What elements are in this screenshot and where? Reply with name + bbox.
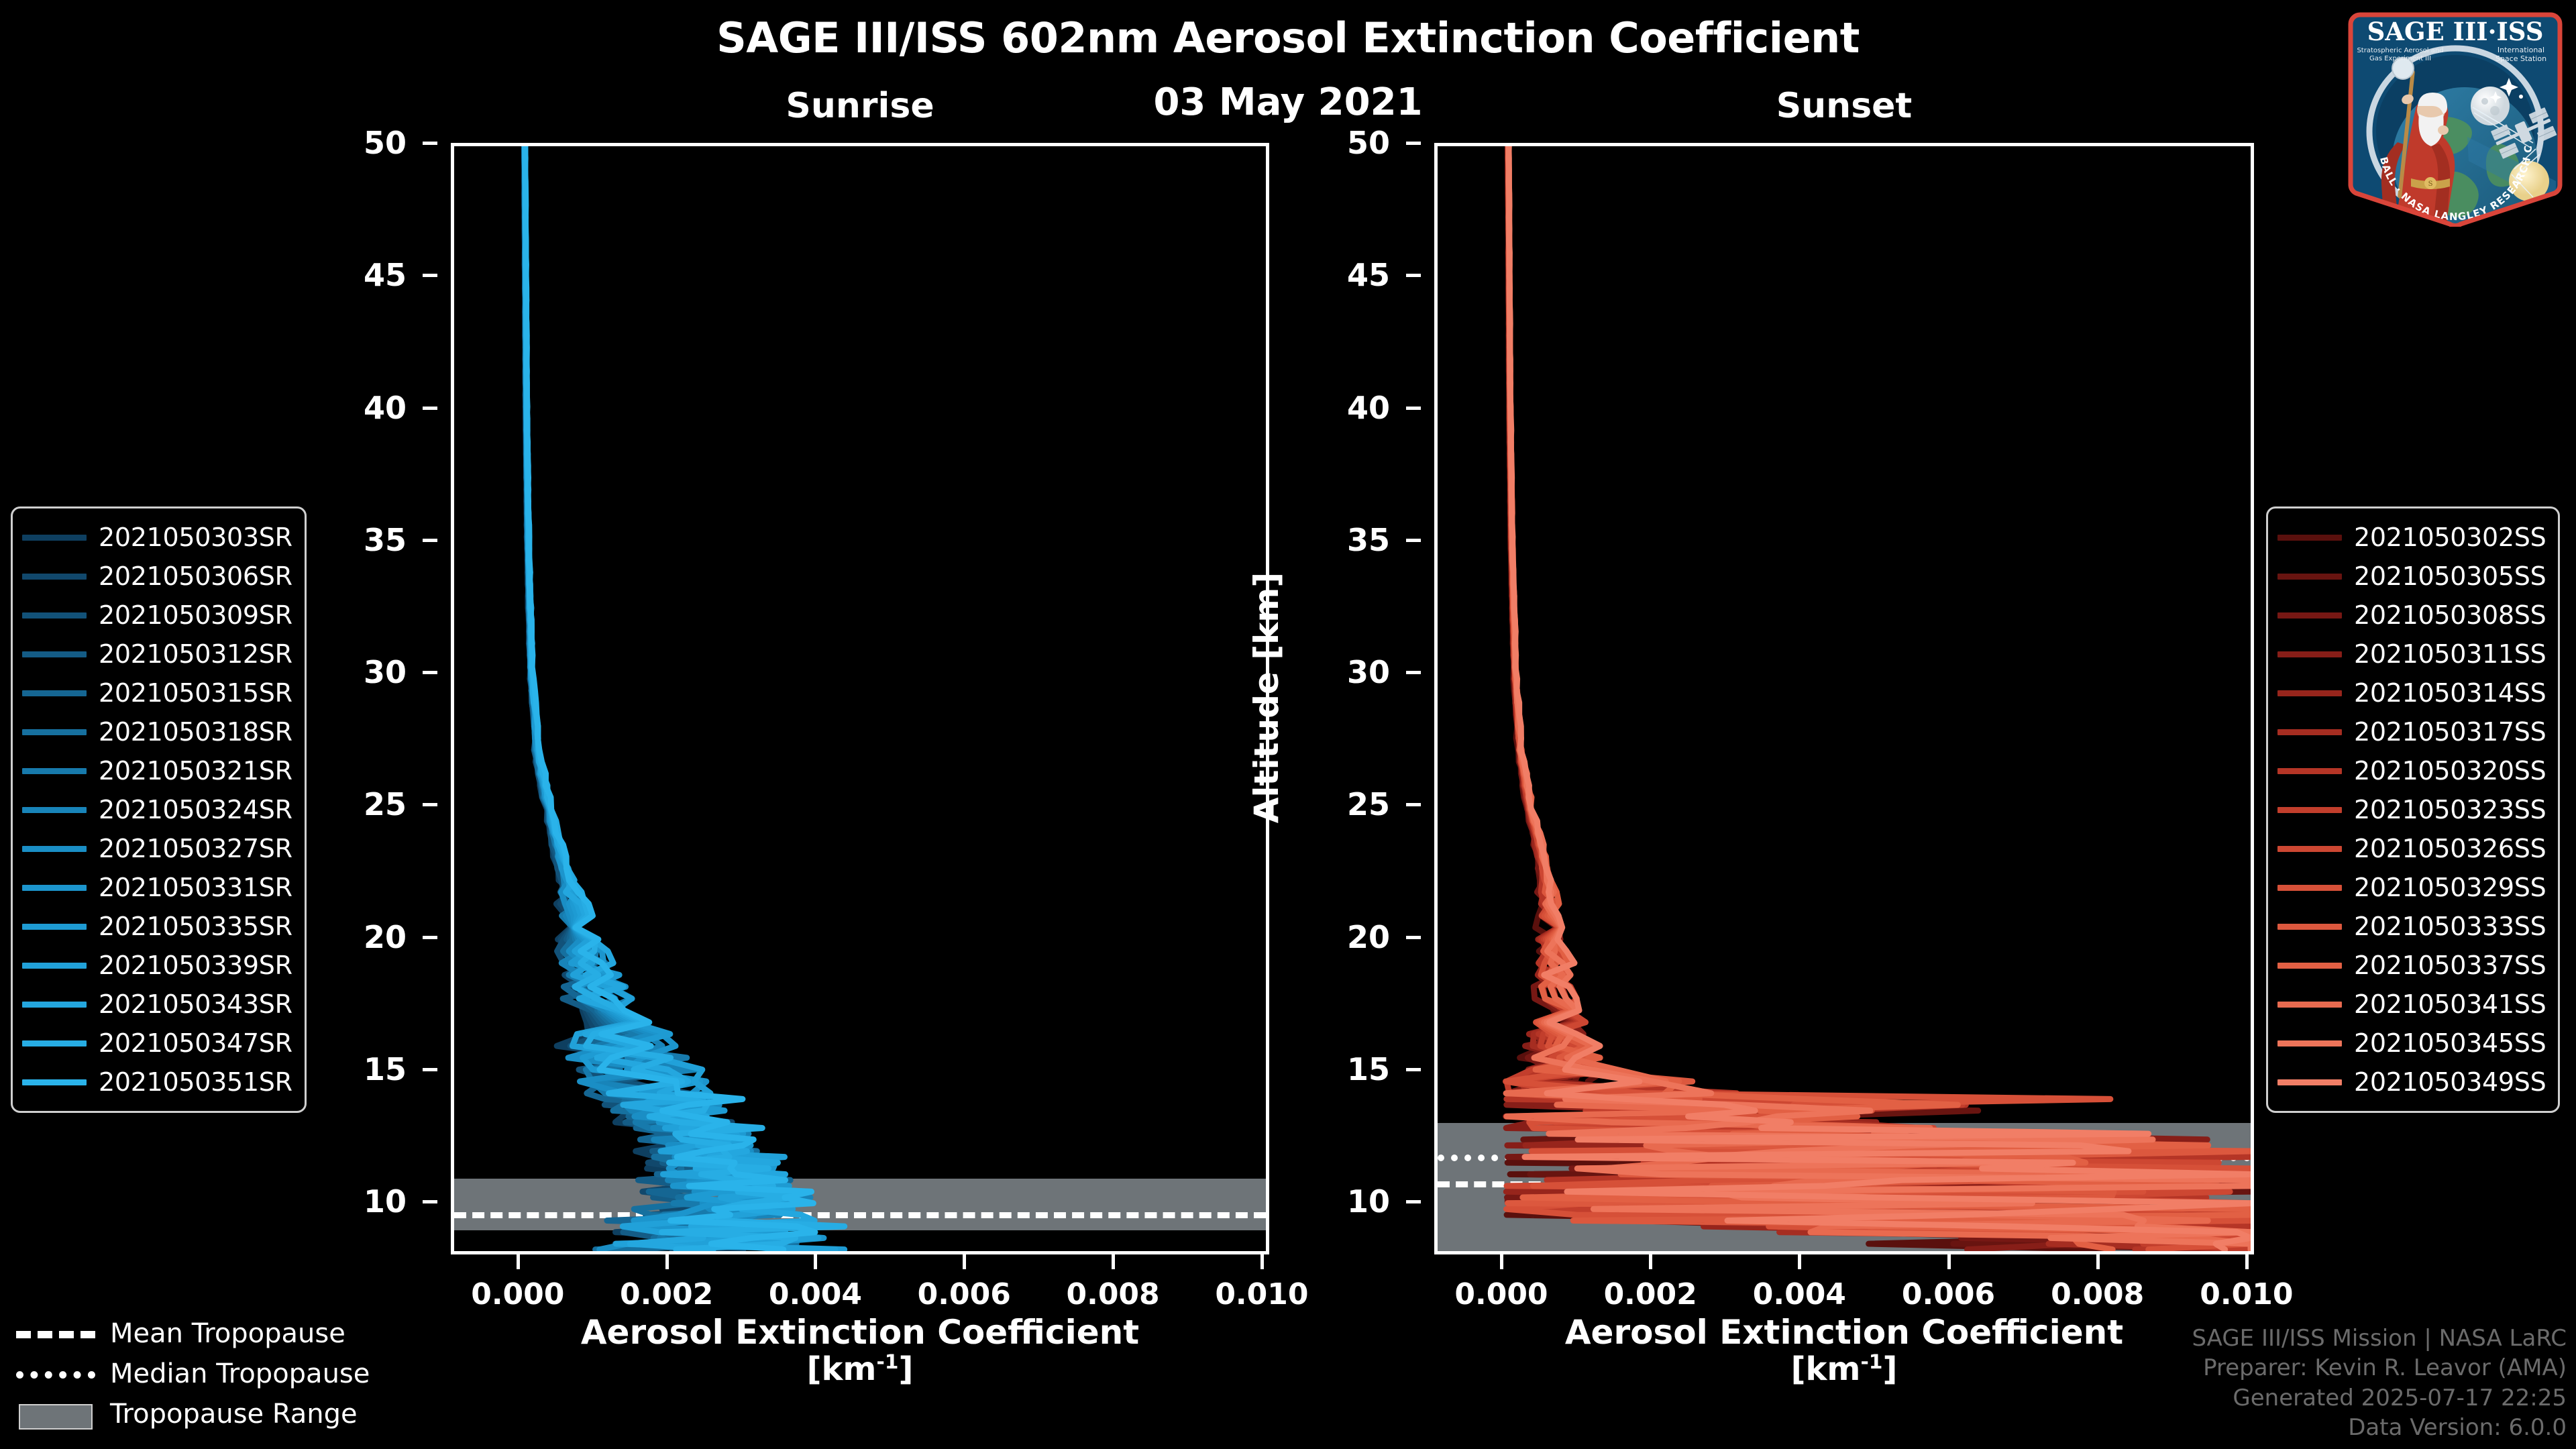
legend-item[interactable]: 2021050349SS (2277, 1063, 2546, 1102)
x-tick-label: 0.000 (1454, 1277, 1548, 1311)
legend-color-swatch (22, 846, 87, 852)
sunset-y-axis-ticks: 101520253035404550 (1313, 143, 1421, 1254)
tropopause-legend-item: Mean Tropopause (16, 1313, 370, 1354)
legend-item[interactable]: 2021050323SS (2277, 790, 2546, 829)
legend-color-swatch (22, 1040, 87, 1046)
legend-item-label: 2021050341SS (2354, 989, 2546, 1019)
legend-color-swatch (2277, 885, 2342, 891)
legend-item[interactable]: 2021050329SS (2277, 868, 2546, 907)
legend-item-label: 2021050345SS (2354, 1028, 2546, 1058)
x-tick-mark (1798, 1254, 1801, 1269)
legend-color-swatch (2277, 1002, 2342, 1008)
legend-color-swatch (22, 612, 87, 619)
legend-item[interactable]: 2021050327SR (22, 829, 292, 868)
x-tick-label: 0.010 (1215, 1277, 1308, 1311)
x-tick-label: 0.004 (769, 1277, 862, 1311)
legend-color-swatch (2277, 535, 2342, 541)
y-tick-label: 15 (364, 1051, 407, 1087)
svg-text:SAGE III·ISS: SAGE III·ISS (2367, 17, 2544, 46)
x-tick-mark (665, 1254, 669, 1269)
legend-item[interactable]: 2021050347SR (22, 1024, 292, 1063)
legend-item[interactable]: 2021050339SR (22, 946, 292, 985)
y-tick-mark (1406, 671, 1421, 674)
x-tick-label: 0.000 (471, 1277, 564, 1311)
legend-item[interactable]: 2021050333SS (2277, 907, 2546, 946)
x-tick-label: 0.008 (1066, 1277, 1159, 1311)
dashed-line-icon (16, 1324, 95, 1344)
x-tick-mark (1649, 1254, 1652, 1269)
svg-text:Gas Experiment III: Gas Experiment III (2369, 55, 2431, 62)
y-tick-mark (423, 1068, 437, 1071)
y-tick-mark (423, 936, 437, 939)
credits-line-mission: SAGE III/ISS Mission | NASA LaRC (2192, 1324, 2567, 1353)
legend-item-label: 2021050324SR (99, 795, 292, 824)
legend-item-label: 2021050333SS (2354, 912, 2546, 941)
legend-color-swatch (2277, 963, 2342, 969)
credits-line-preparer: Preparer: Kevin R. Leavor (AMA) (2192, 1353, 2567, 1383)
x-tick-label: 0.002 (620, 1277, 713, 1311)
legend-color-swatch (2277, 690, 2342, 696)
tropopause-legend-label: Tropopause Range (110, 1399, 358, 1430)
x-tick-mark (1947, 1254, 1951, 1269)
legend-item[interactable]: 2021050320SS (2277, 751, 2546, 790)
legend-item[interactable]: 2021050312SR (22, 635, 292, 674)
x-tick-mark (2096, 1254, 2100, 1269)
y-tick-label: 35 (1347, 522, 1390, 558)
y-tick-mark (423, 539, 437, 542)
y-tick-label: 20 (1347, 919, 1390, 955)
svg-text:Space Station: Space Station (2495, 54, 2546, 63)
legend-color-swatch (2277, 807, 2342, 813)
x-tick-label: 0.010 (2200, 1277, 2293, 1311)
y-tick-mark (423, 1200, 437, 1203)
legend-color-swatch (2277, 1040, 2342, 1046)
sunset-panel-label: Sunset (1776, 86, 1913, 126)
x-tick-label: 0.002 (1604, 1277, 1697, 1311)
x-tick-label: 0.006 (918, 1277, 1011, 1311)
sunrise-plot-area (451, 143, 1269, 1254)
legend-item-label: 2021050317SS (2354, 717, 2546, 747)
y-tick-mark (1406, 1068, 1421, 1071)
legend-item-label: 2021050329SS (2354, 873, 2546, 902)
x-tick-mark (517, 1254, 520, 1269)
legend-item[interactable]: 2021050321SR (22, 751, 292, 790)
legend-item[interactable]: 2021050318SR (22, 712, 292, 751)
sunrise-series-curves (454, 146, 1266, 1251)
legend-item[interactable]: 2021050343SR (22, 985, 292, 1024)
legend-item-label: 2021050308SS (2354, 600, 2546, 630)
legend-color-swatch (22, 963, 87, 969)
y-tick-mark (1406, 539, 1421, 542)
sunrise-panel-label: Sunrise (786, 86, 934, 126)
sunset-x-axis-title: Aerosol Extinction Coefficient [km-1] (1434, 1313, 2254, 1388)
legend-item[interactable]: 2021050337SS (2277, 946, 2546, 985)
legend-color-swatch (2277, 1079, 2342, 1085)
legend-item[interactable]: 2021050315SR (22, 674, 292, 712)
sunset-plot-area (1434, 143, 2254, 1254)
x-tick-mark (814, 1254, 817, 1269)
legend-item-label: 2021050306SR (99, 561, 292, 591)
svg-text:Stratospheric Aerosol and: Stratospheric Aerosol and (2357, 47, 2443, 54)
y-tick-label: 45 (1347, 257, 1390, 293)
legend-color-swatch (2277, 574, 2342, 580)
legend-item[interactable]: 2021050308SS (2277, 596, 2546, 635)
sunset-y-axis-title: Altitude [km] (1247, 572, 1286, 824)
legend-item-label: 2021050315SR (99, 678, 292, 708)
legend-color-swatch (2277, 729, 2342, 735)
legend-item-label: 2021050326SS (2354, 834, 2546, 863)
y-tick-label: 15 (1347, 1051, 1390, 1087)
tropopause-legend-item: Tropopause Range (16, 1394, 370, 1434)
legend-item-label: 2021050312SR (99, 639, 292, 669)
y-tick-mark (1406, 142, 1421, 145)
sunrise-series-legend[interactable]: 2021050303SR2021050306SR2021050309SR2021… (11, 506, 307, 1113)
legend-item[interactable]: 2021050335SR (22, 907, 292, 946)
legend-item[interactable]: 2021050303SR (22, 518, 292, 557)
series-line (1509, 146, 2251, 1250)
sunset-series-legend[interactable]: 2021050302SS2021050305SS2021050308SS2021… (2266, 506, 2560, 1113)
y-tick-mark (423, 407, 437, 410)
filled-band-icon (16, 1404, 95, 1424)
legend-color-swatch (22, 807, 87, 813)
legend-item[interactable]: 2021050311SS (2277, 635, 2546, 674)
legend-color-swatch (22, 729, 87, 735)
page-title: SAGE III/ISS 602nm Aerosol Extinction Co… (0, 13, 2576, 62)
date-subtitle: 03 May 2021 (0, 80, 2576, 124)
legend-item[interactable]: 2021050326SS (2277, 829, 2546, 868)
legend-item-label: 2021050318SR (99, 717, 292, 747)
y-tick-label: 45 (364, 257, 407, 293)
legend-color-swatch (22, 1079, 87, 1085)
x-tick-mark (963, 1254, 966, 1269)
x-tick-mark (1112, 1254, 1115, 1269)
legend-item-label: 2021050323SS (2354, 795, 2546, 824)
x-tick-mark (2245, 1254, 2249, 1269)
y-tick-mark (423, 142, 437, 145)
legend-color-swatch (22, 768, 87, 774)
y-tick-mark (1406, 1200, 1421, 1203)
legend-item-label: 2021050311SS (2354, 639, 2546, 669)
legend-item-label: 2021050320SS (2354, 756, 2546, 786)
y-tick-label: 20 (364, 919, 407, 955)
legend-item[interactable]: 2021050351SR (22, 1063, 292, 1102)
legend-item-label: 2021050303SR (99, 523, 292, 552)
legend-item[interactable]: 2021050317SS (2277, 712, 2546, 751)
y-tick-mark (423, 274, 437, 277)
x-tick-label: 0.008 (2051, 1277, 2144, 1311)
tropopause-legend-label: Median Tropopause (110, 1358, 370, 1389)
legend-color-swatch (22, 574, 87, 580)
legend-item-label: 2021050327SR (99, 834, 292, 863)
y-tick-label: 40 (364, 390, 407, 426)
y-tick-label: 25 (1347, 786, 1390, 822)
y-tick-label: 30 (1347, 654, 1390, 690)
y-tick-label: 25 (364, 786, 407, 822)
y-tick-mark (1406, 936, 1421, 939)
x-tick-label: 0.004 (1753, 1277, 1846, 1311)
svg-text:International: International (2498, 46, 2544, 54)
legend-color-swatch (2277, 612, 2342, 619)
credits-line-generated: Generated 2025-07-17 22:25 (2192, 1383, 2567, 1413)
legend-item[interactable]: 2021050309SR (22, 596, 292, 635)
legend-item[interactable]: 2021050341SS (2277, 985, 2546, 1024)
dotted-line-icon (16, 1364, 95, 1384)
legend-item-label: 2021050314SS (2354, 678, 2546, 708)
legend-item-label: 2021050331SR (99, 873, 292, 902)
x-tick-mark (1260, 1254, 1264, 1269)
legend-item-label: 2021050337SS (2354, 951, 2546, 980)
legend-color-swatch (22, 535, 87, 541)
legend-item-label: 2021050321SR (99, 756, 292, 786)
legend-color-swatch (2277, 846, 2342, 852)
y-tick-mark (1406, 803, 1421, 806)
legend-item[interactable]: 2021050324SR (22, 790, 292, 829)
y-tick-mark (423, 671, 437, 674)
legend-item-label: 2021050351SR (99, 1067, 292, 1097)
tropopause-legend-item: Median Tropopause (16, 1354, 370, 1394)
tropopause-legend: Mean TropopauseMedian TropopauseTropopau… (16, 1313, 370, 1434)
legend-item-label: 2021050347SR (99, 1028, 292, 1058)
y-tick-label: 10 (1347, 1183, 1390, 1220)
legend-item[interactable]: 2021050306SR (22, 557, 292, 596)
sunrise-x-axis-title: Aerosol Extinction Coefficient [km-1] (451, 1313, 1269, 1388)
sunset-x-axis-unit: [km-1] (1434, 1351, 2254, 1388)
y-tick-label: 50 (1347, 125, 1390, 161)
sunset-x-axis-title-text: Aerosol Extinction Coefficient (1565, 1313, 2123, 1352)
legend-item[interactable]: 2021050345SS (2277, 1024, 2546, 1063)
credits-block: SAGE III/ISS Mission | NASA LaRC Prepare… (2192, 1324, 2567, 1442)
legend-item[interactable]: 2021050314SS (2277, 674, 2546, 712)
legend-item[interactable]: 2021050331SR (22, 868, 292, 907)
legend-item-label: 2021050302SS (2354, 523, 2546, 552)
sunrise-x-axis-unit: [km-1] (451, 1351, 1269, 1388)
legend-color-swatch (22, 924, 87, 930)
y-tick-label: 10 (364, 1183, 407, 1220)
legend-color-swatch (2277, 768, 2342, 774)
legend-item-label: 2021050339SR (99, 951, 292, 980)
legend-item[interactable]: 2021050302SS (2277, 518, 2546, 557)
y-tick-mark (1406, 274, 1421, 277)
legend-item-label: 2021050309SR (99, 600, 292, 630)
legend-item-label: 2021050349SS (2354, 1067, 2546, 1097)
figure-canvas: SAGE III/ISS 602nm Aerosol Extinction Co… (0, 0, 2576, 1449)
y-tick-label: 50 (364, 125, 407, 161)
sunrise-x-axis-title-text: Aerosol Extinction Coefficient (581, 1313, 1139, 1352)
x-tick-mark (1500, 1254, 1503, 1269)
y-tick-mark (423, 803, 437, 806)
legend-item[interactable]: 2021050305SS (2277, 557, 2546, 596)
sage-iii-iss-mission-patch-icon: S BALL · NASA LANGLEY RESEARCH CENTER · … (2341, 5, 2569, 227)
credits-line-version: Data Version: 6.0.0 (2192, 1413, 2567, 1442)
legend-color-swatch (2277, 651, 2342, 657)
y-tick-label: 40 (1347, 390, 1390, 426)
y-tick-label: 35 (364, 522, 407, 558)
sunrise-y-axis-ticks: 101520253035404550 (330, 143, 437, 1254)
tropopause-legend-label: Mean Tropopause (110, 1318, 345, 1349)
sunset-series-curves (1438, 146, 2251, 1251)
legend-color-swatch (22, 690, 87, 696)
x-tick-label: 0.006 (1902, 1277, 1995, 1311)
y-tick-mark (1406, 407, 1421, 410)
svg-text:S: S (2428, 180, 2433, 188)
y-tick-label: 30 (364, 654, 407, 690)
legend-color-swatch (22, 885, 87, 891)
legend-item-label: 2021050343SR (99, 989, 292, 1019)
legend-item-label: 2021050335SR (99, 912, 292, 941)
legend-color-swatch (22, 651, 87, 657)
legend-color-swatch (2277, 924, 2342, 930)
legend-color-swatch (22, 1002, 87, 1008)
legend-item-label: 2021050305SS (2354, 561, 2546, 591)
